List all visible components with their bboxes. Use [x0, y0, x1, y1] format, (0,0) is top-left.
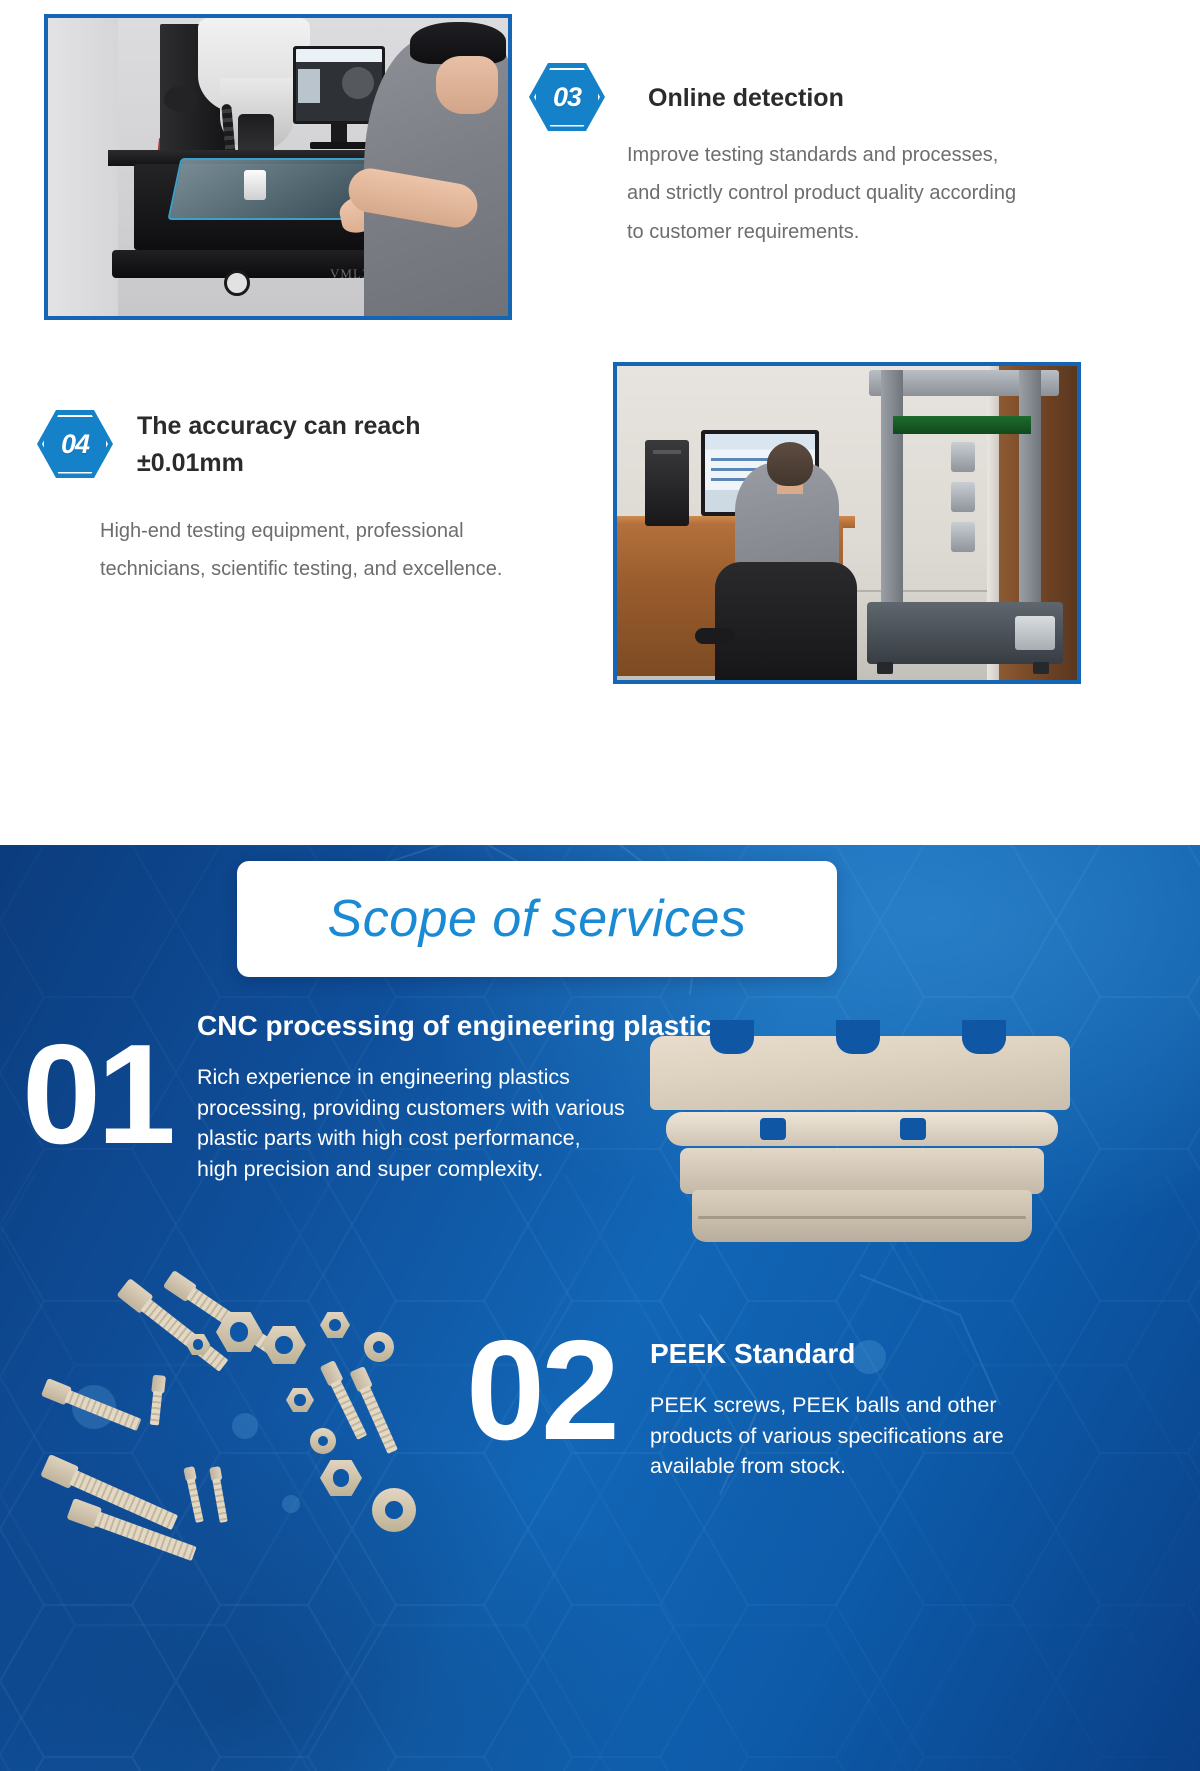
scope-title-card: Scope of services — [237, 861, 837, 977]
feature-number-03: 03 — [529, 63, 605, 131]
feature-badge-04: 04 — [37, 410, 113, 478]
feature-number-04: 04 — [37, 410, 113, 478]
metrology-lab-image: VML300 — [48, 18, 508, 316]
feature-badge-03: 03 — [529, 63, 605, 131]
service-title-02: PEEK Standard — [650, 1338, 1110, 1370]
tensile-test-lab-image — [617, 366, 1077, 680]
features-section: VML300 03 Online detection Improve testi… — [0, 0, 1200, 845]
feature-body-03: Improve testing standards and processes,… — [627, 136, 1017, 251]
feature-title-04: The accuracy can reach ±0.01mm — [137, 408, 487, 481]
feature-body-04: High-end testing equipment, professional… — [100, 512, 525, 589]
peek-chain-part-image — [640, 1020, 1078, 1260]
service-number-01: 01 — [22, 1024, 172, 1166]
feature-title-03: Online detection — [648, 80, 1068, 117]
service-number-02: 02 — [466, 1320, 616, 1462]
service-body-02: PEEK screws, PEEK balls and other produc… — [650, 1390, 1020, 1482]
scope-title: Scope of services — [328, 889, 747, 949]
online-detection-photo: VML300 — [44, 14, 512, 320]
accuracy-testing-photo — [613, 362, 1081, 684]
peek-screws-image — [34, 1270, 454, 1570]
service-body-01: Rich experience in engineering plastics … — [197, 1062, 627, 1184]
